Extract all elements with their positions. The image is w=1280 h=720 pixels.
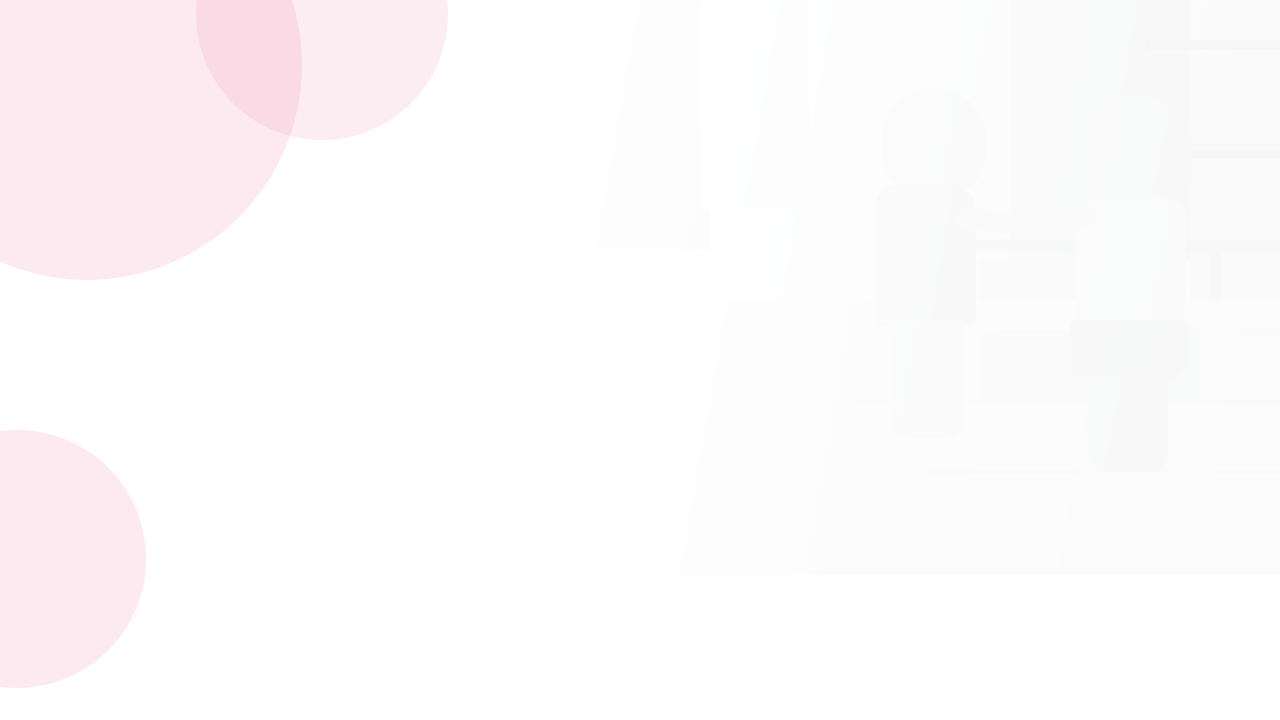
- presentation-slide: Webbinarium för BHV-personal 6 november …: [0, 0, 1280, 720]
